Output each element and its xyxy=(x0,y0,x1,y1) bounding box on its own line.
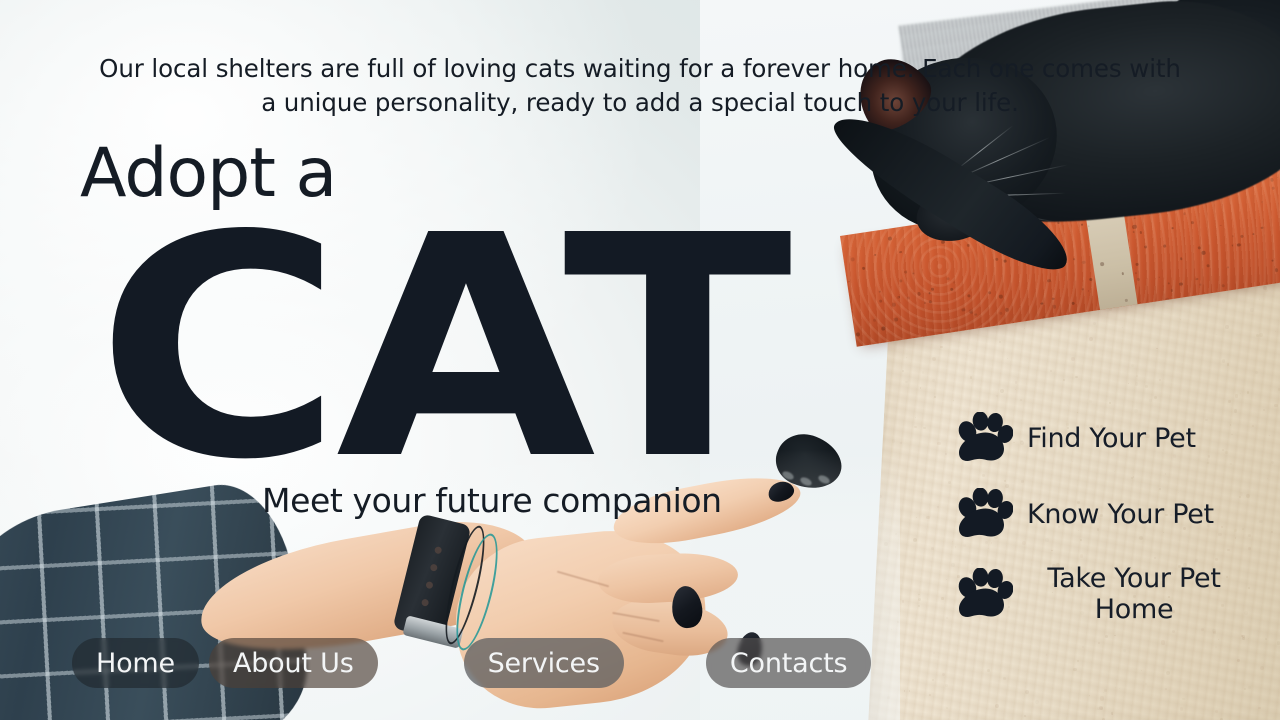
stucco-speck xyxy=(1250,308,1254,312)
stucco-speck xyxy=(902,600,905,603)
brick-speck xyxy=(1052,305,1056,309)
stucco-speck xyxy=(909,690,910,691)
stucco-speck xyxy=(1104,689,1108,693)
stucco-speck xyxy=(1000,389,1004,393)
stucco-speck xyxy=(904,690,906,692)
bracelet-teal xyxy=(448,530,506,654)
stucco-speck xyxy=(1071,357,1075,361)
stucco-speck xyxy=(914,426,917,429)
stucco-speck xyxy=(896,645,900,649)
stucco-speck xyxy=(1182,698,1185,701)
stucco-speck xyxy=(1201,628,1204,631)
stucco-speck xyxy=(1172,630,1175,633)
brick-speck xyxy=(1271,259,1273,261)
stucco-speck xyxy=(1135,382,1139,386)
stucco-speck xyxy=(969,350,971,352)
brick-speck xyxy=(1202,251,1206,255)
brick-speck xyxy=(928,292,931,295)
hero-poster: Our local shelters are full of loving ca… xyxy=(0,0,1280,720)
stucco-speck xyxy=(1258,707,1261,710)
stucco-speck xyxy=(937,506,938,507)
brick-speck xyxy=(1172,227,1174,229)
stucco-speck xyxy=(937,442,941,446)
stucco-speck xyxy=(934,396,936,398)
stucco-speck xyxy=(1248,686,1252,690)
stucco-speck xyxy=(1248,638,1249,639)
brick-speck xyxy=(1136,278,1139,281)
stucco-speck xyxy=(932,379,935,382)
stucco-speck xyxy=(1024,328,1025,329)
stucco-speck xyxy=(1265,638,1267,640)
feature-label: Take Your Pet Home xyxy=(1027,564,1241,626)
stucco-speck xyxy=(1259,299,1261,301)
watch-hole xyxy=(421,598,429,606)
brick-speck xyxy=(1163,245,1166,248)
stucco-speck xyxy=(1180,707,1184,711)
stucco-speck xyxy=(1089,695,1090,696)
brick-speck xyxy=(873,318,876,321)
stucco-speck xyxy=(1119,688,1120,689)
stucco-speck xyxy=(1136,375,1138,377)
brick-speck xyxy=(1025,243,1029,247)
stucco-speck xyxy=(987,669,990,672)
brick-speck xyxy=(894,317,898,321)
intro-paragraph: Our local shelters are full of loving ca… xyxy=(90,52,1190,120)
stucco-speck xyxy=(1247,391,1250,394)
stucco-speck xyxy=(900,442,902,444)
stucco-speck xyxy=(1073,668,1076,671)
brick-speck xyxy=(1198,246,1202,250)
stucco-speck xyxy=(905,381,907,383)
nav-item-contacts[interactable]: Contacts xyxy=(706,638,872,688)
stucco-speck xyxy=(999,341,1001,343)
paw-print-icon xyxy=(955,412,1013,466)
stucco-speck xyxy=(952,541,953,542)
nav-item-about-us[interactable]: About Us xyxy=(209,638,378,688)
brick-speck xyxy=(881,326,885,330)
stucco-speck xyxy=(921,490,924,493)
stucco-speck xyxy=(1024,715,1026,717)
stucco-speck xyxy=(1109,402,1111,404)
brick-speck xyxy=(1244,184,1246,186)
headline-cat: CAT xyxy=(96,196,786,502)
stucco-speck xyxy=(918,598,921,601)
brick-speck xyxy=(967,294,970,297)
brick-speck xyxy=(953,282,955,284)
stucco-speck xyxy=(1035,700,1039,704)
stucco-speck xyxy=(1161,640,1165,644)
stucco-speck xyxy=(1050,370,1052,372)
stucco-speck xyxy=(1225,325,1229,329)
stucco-speck xyxy=(884,542,888,546)
stucco-speck xyxy=(1145,385,1148,388)
feature-label: Know Your Pet xyxy=(1027,500,1214,531)
stucco-speck xyxy=(929,694,931,696)
stucco-speck xyxy=(1275,331,1276,332)
stucco-speck xyxy=(926,516,929,519)
stucco-speck xyxy=(933,652,935,654)
stucco-speck xyxy=(1159,379,1162,382)
stucco-speck xyxy=(897,621,899,623)
stucco-speck xyxy=(1131,306,1133,308)
stucco-speck xyxy=(1149,399,1152,402)
watch-hole xyxy=(434,546,442,554)
stucco-speck xyxy=(891,629,893,631)
stucco-speck xyxy=(916,517,918,519)
stucco-speck xyxy=(953,400,954,401)
stucco-speck xyxy=(1025,690,1029,694)
stucco-speck xyxy=(931,547,935,551)
stucco-speck xyxy=(1215,646,1217,648)
brick-speck xyxy=(1272,186,1275,189)
watch-hole xyxy=(430,563,438,571)
paw-print-icon xyxy=(955,568,1013,622)
stucco-speck xyxy=(1123,649,1126,652)
stucco-speck xyxy=(1215,710,1218,713)
brick-speck xyxy=(1073,258,1075,260)
stucco-speck xyxy=(1075,376,1078,379)
feature-list: Find Your Pet Know Your Pet xyxy=(955,412,1273,626)
bracelet-black xyxy=(438,523,493,648)
stucco-speck xyxy=(1063,379,1065,381)
stucco-speck xyxy=(892,439,895,442)
stucco-speck xyxy=(945,453,947,455)
stucco-speck xyxy=(970,376,972,378)
stucco-speck xyxy=(1015,389,1016,390)
feature-item-take-your-pet-home[interactable]: Take Your Pet Home xyxy=(955,564,1273,626)
main-navigation: Home About Us Services Contacts xyxy=(72,638,871,688)
feature-label: Find Your Pet xyxy=(1027,424,1196,455)
brick-speck xyxy=(879,299,883,303)
stucco-speck xyxy=(906,357,908,359)
stucco-speck xyxy=(1237,659,1240,662)
stucco-speck xyxy=(887,696,890,699)
stucco-speck xyxy=(1131,364,1134,367)
stucco-speck xyxy=(1263,409,1264,410)
stucco-speck xyxy=(946,617,948,619)
stucco-speck xyxy=(1098,642,1100,644)
fingernail xyxy=(670,585,704,630)
stucco-speck xyxy=(895,533,897,535)
stucco-speck xyxy=(945,684,948,687)
stucco-speck xyxy=(941,597,944,600)
stucco-speck xyxy=(918,594,920,596)
stucco-speck xyxy=(1089,337,1093,341)
stucco-speck xyxy=(932,357,936,361)
feature-item-find-your-pet[interactable]: Find Your Pet xyxy=(955,412,1273,466)
brick-speck xyxy=(1004,260,1007,263)
stucco-speck xyxy=(1235,394,1239,398)
stucco-speck xyxy=(1100,696,1104,700)
stucco-speck xyxy=(932,679,934,681)
brick-speck xyxy=(1081,224,1083,226)
brick-speck xyxy=(1125,299,1128,302)
stucco-speck xyxy=(920,387,922,389)
stucco-speck xyxy=(1015,381,1018,384)
watch-hole xyxy=(425,581,433,589)
knuckle-crease xyxy=(557,571,609,588)
stucco-speck xyxy=(1122,327,1123,328)
stucco-speck xyxy=(1082,646,1084,648)
stucco-speck xyxy=(1145,683,1147,685)
stucco-speck xyxy=(1156,348,1158,350)
stucco-speck xyxy=(946,707,948,709)
stucco-speck xyxy=(881,522,883,524)
stucco-speck xyxy=(1166,671,1170,675)
stucco-speck xyxy=(1154,396,1157,399)
feature-item-know-your-pet[interactable]: Know Your Pet xyxy=(955,488,1273,542)
stucco-speck xyxy=(1007,358,1008,359)
stucco-speck xyxy=(923,427,925,429)
stucco-speck xyxy=(1180,319,1181,320)
brick-speck xyxy=(1004,307,1009,312)
stucco-speck xyxy=(1093,322,1096,325)
stucco-speck xyxy=(1218,639,1219,640)
nav-item-home[interactable]: Home xyxy=(72,638,199,688)
brick-speck xyxy=(1274,268,1278,272)
stucco-speck xyxy=(1067,405,1068,406)
brick-speck xyxy=(1183,213,1186,216)
brick-speck xyxy=(1082,288,1084,290)
stucco-speck xyxy=(995,704,999,708)
stucco-speck xyxy=(1259,333,1263,337)
stucco-speck xyxy=(1213,631,1216,634)
brick-speck xyxy=(1122,272,1125,275)
stucco-speck xyxy=(942,673,946,677)
brick-speck xyxy=(1200,284,1202,286)
knuckle-crease xyxy=(612,612,660,622)
stucco-speck xyxy=(902,370,903,371)
tagline: Meet your future companion xyxy=(262,483,722,519)
wristwatch-band xyxy=(392,513,471,640)
stucco-speck xyxy=(1128,383,1129,384)
brick-speck xyxy=(1089,277,1093,281)
stucco-speck xyxy=(1265,289,1268,292)
brick-speck xyxy=(874,253,876,255)
brick-speck xyxy=(1220,224,1222,226)
stucco-speck xyxy=(1046,654,1048,656)
stucco-speck xyxy=(1240,393,1241,394)
nav-item-services[interactable]: Services xyxy=(464,638,624,688)
brick-speck xyxy=(912,272,914,274)
stucco-speck xyxy=(1077,660,1079,662)
brick-speck xyxy=(1132,224,1137,229)
stucco-speck xyxy=(1105,635,1108,638)
stucco-speck xyxy=(922,371,924,373)
stucco-speck xyxy=(1165,688,1168,691)
paw-print-icon xyxy=(955,488,1013,542)
stucco-speck xyxy=(1227,363,1229,365)
stucco-speck xyxy=(1003,677,1006,680)
brick-speck xyxy=(906,296,910,300)
stucco-speck xyxy=(1255,371,1258,374)
stucco-speck xyxy=(1141,670,1142,671)
stucco-speck xyxy=(1222,359,1226,363)
stucco-speck xyxy=(1244,688,1246,690)
stucco-speck xyxy=(1260,666,1264,670)
stucco-speck xyxy=(1111,712,1114,715)
stucco-speck xyxy=(1228,400,1231,403)
stucco-speck xyxy=(1216,334,1217,335)
stucco-speck xyxy=(1114,635,1115,636)
stucco-speck xyxy=(1020,399,1022,401)
stucco-speck xyxy=(913,538,917,542)
stucco-speck xyxy=(946,579,947,580)
stucco-speck xyxy=(1089,400,1092,403)
stucco-speck xyxy=(1115,687,1116,688)
brick-speck xyxy=(1088,225,1089,226)
stucco-speck xyxy=(918,605,920,607)
stucco-speck xyxy=(940,346,943,349)
stucco-speck xyxy=(1274,404,1278,408)
stucco-speck xyxy=(1100,707,1103,710)
stucco-speck xyxy=(915,417,916,418)
stucco-speck xyxy=(996,395,998,397)
stucco-speck xyxy=(948,481,951,484)
